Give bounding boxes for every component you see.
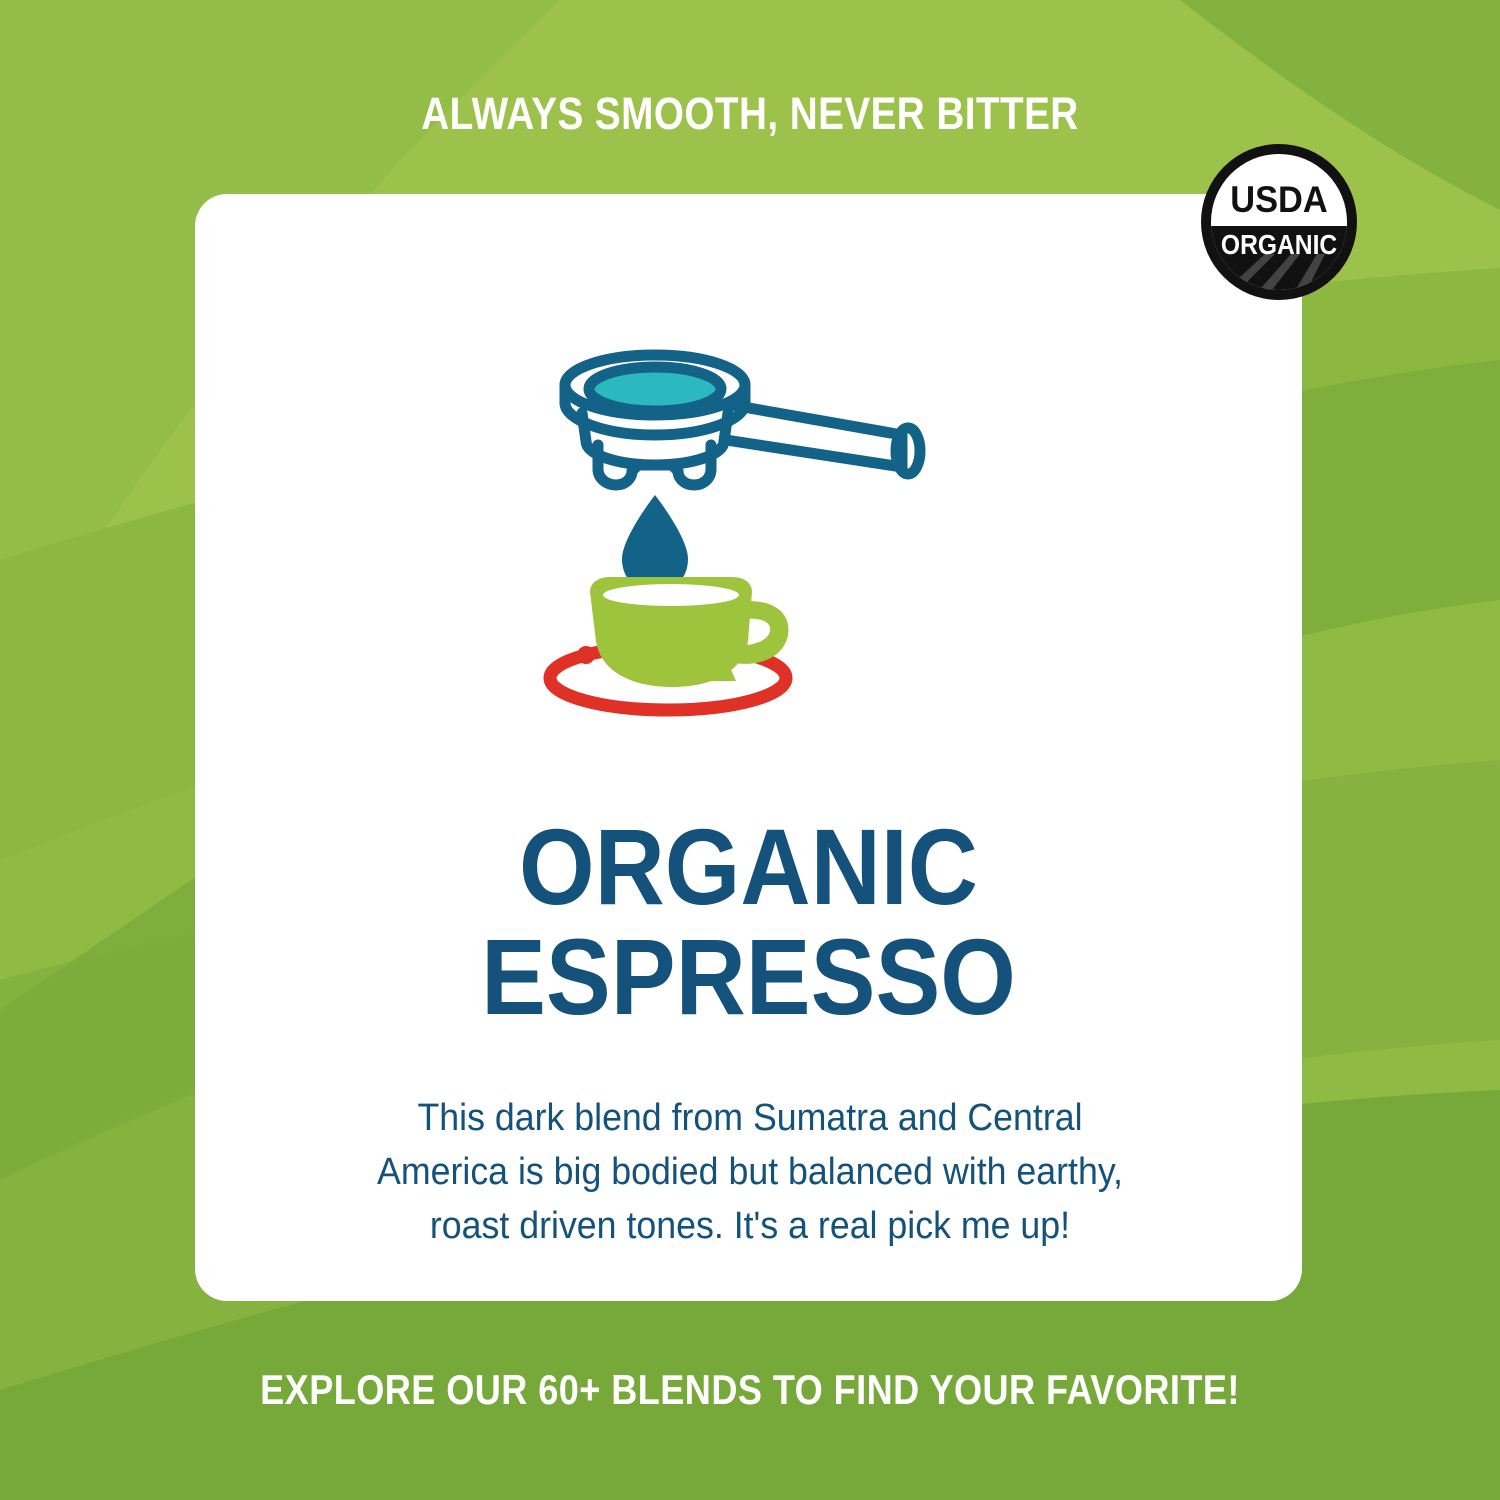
seal-top-text: USDA [1230, 179, 1327, 220]
description-line-2: America is big bodied but balanced with … [355, 1146, 1145, 1200]
portafilter-icon [565, 355, 920, 485]
page-title: ORGANIC ESPRESSO [195, 812, 1302, 1032]
top-banner-text: ALWAYS SMOOTH, NEVER BITTER [105, 88, 1395, 140]
product-card-graphic: ALWAYS SMOOTH, NEVER BITTER [0, 0, 1500, 1500]
description-line-1: This dark blend from Sumatra and Central [355, 1092, 1145, 1146]
bottom-banner-text: EXPLORE OUR 60+ BLENDS TO FIND YOUR FAVO… [105, 1366, 1395, 1414]
espresso-cup-icon [590, 577, 789, 687]
title-line-2: ESPRESSO [250, 922, 1246, 1032]
title-line-1: ORGANIC [250, 812, 1246, 922]
espresso-illustration [520, 345, 980, 745]
seal-bottom-text: ORGANIC [1221, 229, 1337, 261]
description-line-3: roast driven tones. It's a real pick me … [355, 1200, 1145, 1254]
product-description: This dark blend from Sumatra and Central… [330, 1092, 1170, 1254]
usda-organic-seal-icon: USDA ORGANIC [1199, 142, 1359, 302]
